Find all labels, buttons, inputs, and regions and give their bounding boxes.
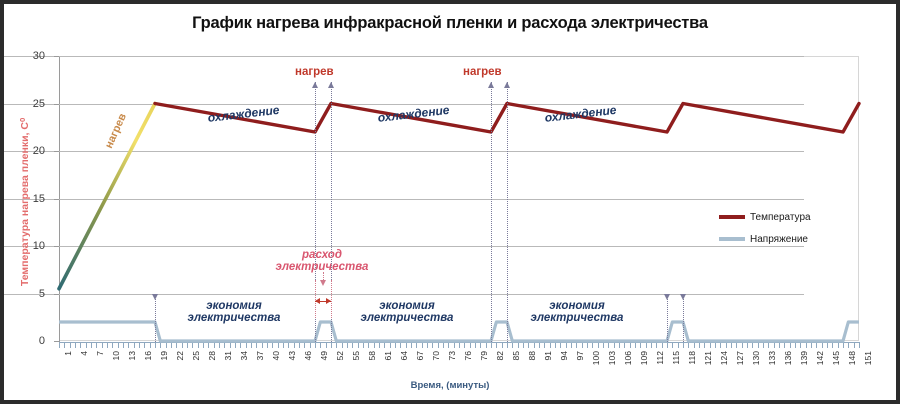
x-tick-mark [416, 343, 417, 348]
x-tick-label: 19 [159, 351, 169, 360]
x-tick-mark [752, 343, 753, 348]
x-tick-mark [464, 343, 465, 348]
x-tick-mark [267, 343, 268, 348]
x-tick-mark [672, 343, 673, 348]
leader-arrow [488, 82, 494, 88]
annotation-spend: расход электричества [267, 249, 377, 273]
x-tick-label: 70 [431, 351, 441, 360]
leader-arrow [664, 294, 670, 300]
x-tick-mark [576, 343, 577, 348]
leader-dotted-line [491, 82, 492, 342]
x-tick-mark [640, 343, 641, 348]
x-tick-mark [166, 343, 167, 348]
x-tick-mark [854, 343, 855, 348]
x-tick-mark [59, 343, 60, 348]
spend-width-arrow-left-head [315, 298, 320, 304]
x-tick-mark [518, 343, 519, 348]
x-tick-mark [406, 343, 407, 348]
x-tick-mark [758, 343, 759, 348]
x-tick-mark [731, 343, 732, 348]
x-tick-mark [438, 343, 439, 348]
x-tick-mark [342, 343, 343, 348]
voltage-series-line [59, 322, 859, 341]
x-tick-mark [352, 343, 353, 348]
temperature-ramp-segment [59, 104, 155, 289]
x-tick-label: 151 [863, 351, 873, 365]
x-tick-mark [859, 343, 860, 348]
x-tick-mark [75, 343, 76, 348]
x-tick-mark [262, 343, 263, 348]
x-tick-mark [688, 343, 689, 348]
x-tick-mark [432, 343, 433, 348]
x-tick-mark [176, 343, 177, 348]
legend-item[interactable]: Напряжение [719, 228, 844, 250]
x-tick-label: 136 [783, 351, 793, 365]
annotation-spend-line2: электричества [267, 261, 377, 273]
x-tick-mark [507, 343, 508, 348]
x-tick-mark [358, 343, 359, 348]
x-tick-mark [80, 343, 81, 348]
x-tick-mark [502, 343, 503, 348]
leader-dotted-line [155, 294, 156, 342]
x-tick-mark [827, 343, 828, 348]
x-tick-mark [715, 343, 716, 348]
x-tick-mark [587, 343, 588, 348]
x-tick-mark [272, 343, 273, 348]
x-tick-mark [347, 343, 348, 348]
x-tick-label: 139 [799, 351, 809, 365]
x-tick-mark [368, 343, 369, 348]
leader-arrow [504, 82, 510, 88]
x-tick-label: 52 [335, 351, 345, 360]
x-tick-mark [822, 343, 823, 348]
x-tick-mark [635, 343, 636, 348]
x-tick-label: 76 [463, 351, 473, 360]
chart-canvas: График нагрева инфракрасной пленки и рас… [4, 4, 896, 400]
x-tick-mark [496, 343, 497, 348]
leader-dotted-line [331, 280, 332, 318]
x-tick-mark [278, 343, 279, 348]
x-tick-mark [96, 343, 97, 348]
x-tick-label: 37 [255, 351, 265, 360]
x-tick-mark [208, 343, 209, 348]
x-tick-mark [720, 343, 721, 348]
y-tick-label: 30 [15, 50, 45, 62]
x-tick-label: 40 [271, 351, 281, 360]
x-tick-mark [726, 343, 727, 348]
x-tick-mark [70, 343, 71, 348]
x-tick-label: 115 [671, 351, 681, 365]
x-tick-mark [171, 343, 172, 348]
legend-item[interactable]: Температура [719, 206, 844, 228]
x-tick-mark [838, 343, 839, 348]
x-tick-mark [523, 343, 524, 348]
x-tick-mark [315, 343, 316, 348]
x-tick-mark [91, 343, 92, 348]
x-tick-label: 49 [319, 351, 329, 360]
x-tick-mark [219, 343, 220, 348]
x-tick-mark [379, 343, 380, 348]
x-tick-label: 100 [591, 351, 601, 365]
x-tick-mark [603, 343, 604, 348]
x-tick-mark [288, 343, 289, 348]
x-tick-mark [331, 343, 332, 348]
y-axis-title: Температура нагрева пленки, C⁰ [19, 97, 31, 307]
x-tick-mark [470, 343, 471, 348]
spend-width-arrow-right-head [326, 298, 331, 304]
x-tick-mark [134, 343, 135, 348]
annotation-save-1: экономия электричества [176, 300, 292, 324]
leader-dotted-line [507, 82, 508, 342]
annotation-heat-2: нагрев [463, 66, 502, 78]
x-tick-mark [459, 343, 460, 348]
x-tick-mark [667, 343, 668, 348]
x-tick-mark [400, 343, 401, 348]
x-tick-mark [123, 343, 124, 348]
x-tick-mark [320, 343, 321, 348]
x-tick-mark [491, 343, 492, 348]
x-tick-mark [528, 343, 529, 348]
x-tick-mark [187, 343, 188, 348]
x-tick-label: 127 [735, 351, 745, 365]
x-tick-mark [384, 343, 385, 348]
x-tick-mark [763, 343, 764, 348]
annotation-spend-line1: расход [267, 249, 377, 261]
annotation-save-3: экономия электричества [519, 300, 635, 324]
x-tick-mark [475, 343, 476, 348]
x-tick-label: 58 [367, 351, 377, 360]
x-tick-mark [112, 343, 113, 348]
x-tick-label: 67 [415, 351, 425, 360]
leader-dotted-line [667, 294, 668, 342]
x-tick-mark [107, 343, 108, 348]
x-tick-mark [768, 343, 769, 348]
x-tick-mark [560, 343, 561, 348]
x-tick-mark [630, 343, 631, 348]
x-tick-label: 34 [239, 351, 249, 360]
x-tick-mark [443, 343, 444, 348]
chart-title: График нагрева инфракрасной пленки и рас… [4, 14, 896, 33]
x-tick-mark [118, 343, 119, 348]
x-tick-mark [64, 343, 65, 348]
x-tick-mark [512, 343, 513, 348]
x-tick-label: 145 [831, 351, 841, 365]
x-tick-mark [784, 343, 785, 348]
leader-arrow [312, 82, 318, 88]
x-tick-mark [736, 343, 737, 348]
x-tick-mark [710, 343, 711, 348]
x-tick-mark [299, 343, 300, 348]
x-tick-mark [699, 343, 700, 348]
x-tick-mark [235, 343, 236, 348]
x-tick-mark [86, 343, 87, 348]
x-tick-label: 142 [815, 351, 825, 365]
x-tick-mark [256, 343, 257, 348]
x-tick-mark [534, 343, 535, 348]
x-tick-label: 31 [223, 351, 233, 360]
leader-arrow [152, 294, 158, 300]
x-tick-label: 97 [575, 351, 585, 360]
annotation-save-3-line1: экономия [519, 300, 635, 312]
annotation-save-2-line1: экономия [349, 300, 465, 312]
x-tick-mark [374, 343, 375, 348]
x-tick-mark [326, 343, 327, 348]
x-tick-mark [694, 343, 695, 348]
x-tick-mark [646, 343, 647, 348]
legend-label: Температура [750, 212, 811, 223]
chart-screenshot: График нагрева инфракрасной пленки и рас… [0, 0, 900, 404]
x-tick-mark [566, 343, 567, 348]
x-tick-mark [779, 343, 780, 348]
annotation-save-2-line2: электричества [349, 312, 465, 324]
x-tick-mark [427, 343, 428, 348]
annotation-save-1-line2: электричества [176, 312, 292, 324]
x-tick-label: 124 [719, 351, 729, 365]
x-tick-label: 148 [847, 351, 857, 365]
x-tick-label: 79 [479, 351, 489, 360]
x-tick-mark [619, 343, 620, 348]
x-tick-mark [230, 343, 231, 348]
x-tick-mark [251, 343, 252, 348]
x-tick-label: 13 [127, 351, 137, 360]
x-tick-label: 91 [543, 351, 553, 360]
x-tick-mark [102, 343, 103, 348]
x-tick-mark [203, 343, 204, 348]
x-tick-label: 10 [111, 351, 121, 360]
legend-swatch [719, 215, 745, 219]
x-tick-mark [144, 343, 145, 348]
x-tick-mark [336, 343, 337, 348]
x-tick-mark [848, 343, 849, 348]
x-tick-mark [283, 343, 284, 348]
x-tick-mark [656, 343, 657, 348]
x-tick-mark [246, 343, 247, 348]
x-tick-mark [304, 343, 305, 348]
x-tick-label: 43 [287, 351, 297, 360]
x-tick-mark [198, 343, 199, 348]
chart-legend: ТемператураНапряжение [719, 206, 844, 250]
x-tick-mark [539, 343, 540, 348]
x-tick-mark [486, 343, 487, 348]
x-tick-mark [480, 343, 481, 348]
x-tick-mark [310, 343, 311, 348]
x-tick-label: 1 [63, 351, 73, 356]
x-tick-mark [608, 343, 609, 348]
x-tick-label: 55 [351, 351, 361, 360]
x-tick-mark [774, 343, 775, 348]
x-tick-mark [411, 343, 412, 348]
x-tick-mark [454, 343, 455, 348]
annotation-heat-1: нагрев [295, 66, 334, 78]
x-tick-mark [294, 343, 295, 348]
x-tick-label: 88 [527, 351, 537, 360]
x-tick-mark [139, 343, 140, 348]
legend-label: Напряжение [750, 234, 808, 245]
x-tick-label: 94 [559, 351, 569, 360]
x-tick-label: 106 [623, 351, 633, 365]
y-tick-label: 0 [15, 335, 45, 347]
annotation-save-1-line1: экономия [176, 300, 292, 312]
x-tick-mark [790, 343, 791, 348]
x-tick-mark [843, 343, 844, 348]
x-axis-title: Время, (минуты) [4, 380, 896, 391]
x-tick-label: 85 [511, 351, 521, 360]
x-tick-label: 25 [191, 351, 201, 360]
x-tick-mark [747, 343, 748, 348]
x-tick-mark [150, 343, 151, 348]
x-tick-label: 4 [79, 351, 89, 356]
x-tick-label: 130 [751, 351, 761, 365]
x-tick-label: 46 [303, 351, 313, 360]
annotation-save-3-line2: электричества [519, 312, 635, 324]
x-tick-label: 121 [703, 351, 713, 365]
x-tick-mark [571, 343, 572, 348]
x-tick-label: 61 [383, 351, 393, 360]
legend-swatch [719, 237, 745, 241]
x-tick-mark [806, 343, 807, 348]
x-tick-label: 82 [495, 351, 505, 360]
x-tick-mark [363, 343, 364, 348]
x-tick-mark [704, 343, 705, 348]
x-tick-label: 28 [207, 351, 217, 360]
x-tick-mark [544, 343, 545, 348]
x-tick-mark [448, 343, 449, 348]
x-tick-mark [224, 343, 225, 348]
x-tick-mark [214, 343, 215, 348]
x-tick-label: 103 [607, 351, 617, 365]
x-tick-mark [832, 343, 833, 348]
x-tick-mark [582, 343, 583, 348]
x-tick-label: 22 [175, 351, 185, 360]
x-tick-mark [800, 343, 801, 348]
x-tick-mark [128, 343, 129, 348]
x-tick-mark [592, 343, 593, 348]
x-tick-label: 16 [143, 351, 153, 360]
leader-arrow [328, 82, 334, 88]
x-tick-label: 112 [655, 351, 665, 365]
x-tick-mark [550, 343, 551, 348]
x-tick-mark [811, 343, 812, 348]
x-tick-mark [192, 343, 193, 348]
leader-arrow [680, 294, 686, 300]
x-tick-mark [422, 343, 423, 348]
x-tick-mark [160, 343, 161, 348]
x-tick-label: 73 [447, 351, 457, 360]
x-tick-label: 133 [767, 351, 777, 365]
x-tick-mark [155, 343, 156, 348]
x-tick-mark [390, 343, 391, 348]
x-tick-mark [683, 343, 684, 348]
x-tick-label: 118 [687, 351, 697, 365]
x-tick-mark [816, 343, 817, 348]
x-tick-mark [795, 343, 796, 348]
x-tick-mark [624, 343, 625, 348]
x-tick-mark [182, 343, 183, 348]
x-tick-mark [240, 343, 241, 348]
x-tick-mark [395, 343, 396, 348]
spend-leader-stem [323, 272, 324, 282]
x-tick-label: 7 [95, 351, 105, 356]
x-tick-mark [742, 343, 743, 348]
x-tick-mark [598, 343, 599, 348]
x-tick-label: 64 [399, 351, 409, 360]
x-tick-label: 109 [639, 351, 649, 365]
x-tick-mark [651, 343, 652, 348]
x-tick-mark [678, 343, 679, 348]
x-tick-mark [662, 343, 663, 348]
leader-dotted-line [683, 294, 684, 342]
annotation-save-2: экономия электричества [349, 300, 465, 324]
x-tick-mark [614, 343, 615, 348]
x-tick-mark [555, 343, 556, 348]
